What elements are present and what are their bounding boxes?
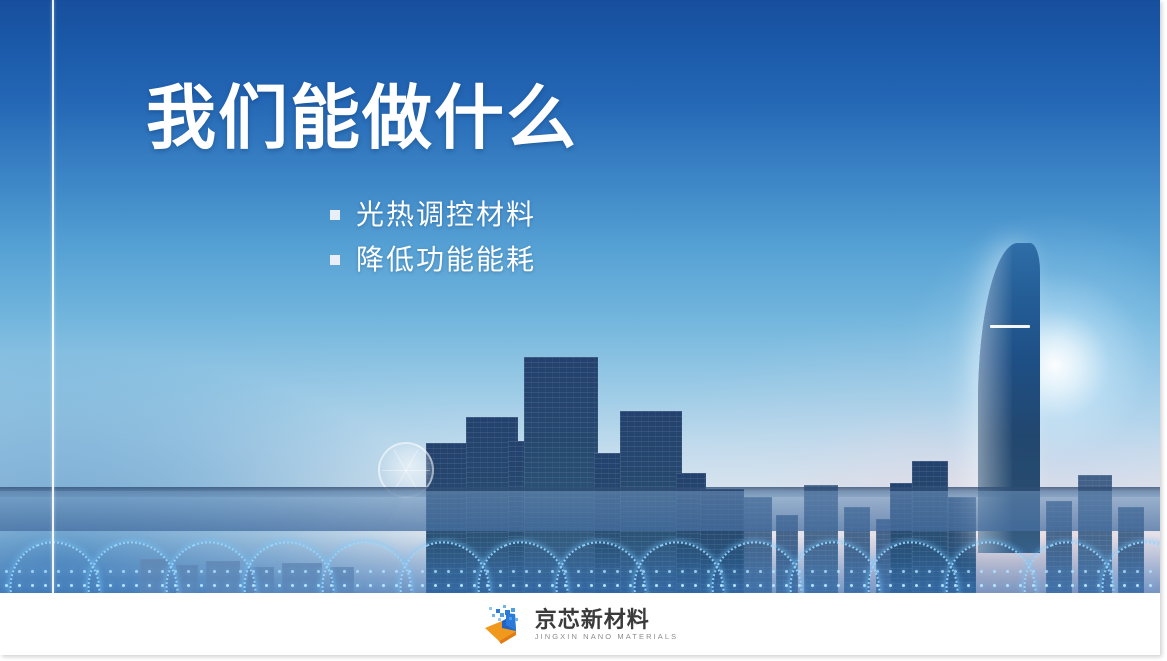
hero-background-photo: 我们能做什么 光热调控材料 降低功能能耗 <box>0 0 1160 593</box>
slide-footer: 京芯新材料 JINGXIN NANO MATERIALS <box>0 593 1160 655</box>
slide-frame: 我们能做什么 光热调控材料 降低功能能耗 <box>0 0 1160 655</box>
bullet-label: 光热调控材料 <box>356 201 536 229</box>
bullet-label: 降低功能能耗 <box>356 246 536 274</box>
slide: 我们能做什么 光热调控材料 降低功能能耗 <box>0 0 1167 661</box>
city-skyline <box>0 263 1160 593</box>
logo-name-cn: 京芯新材料 <box>535 608 679 631</box>
slide-title: 我们能做什么 <box>146 82 578 156</box>
logo-name-en: JINGXIN NANO MATERIALS <box>535 633 679 641</box>
list-item: 降低功能能耗 <box>330 237 536 282</box>
company-logo: 京芯新材料 JINGXIN NANO MATERIALS <box>482 604 679 644</box>
square-bullet-icon <box>330 210 340 220</box>
bullet-list: 光热调控材料 降低功能能耗 <box>330 192 536 282</box>
list-item: 光热调控材料 <box>330 192 536 237</box>
logo-wordmark: 京芯新材料 JINGXIN NANO MATERIALS <box>535 608 679 641</box>
jingxin-pixel-logo-icon <box>482 604 526 644</box>
tower-light-band <box>990 325 1030 328</box>
square-bullet-icon <box>330 255 340 265</box>
left-accent-rule <box>52 0 54 593</box>
river <box>0 491 1160 531</box>
